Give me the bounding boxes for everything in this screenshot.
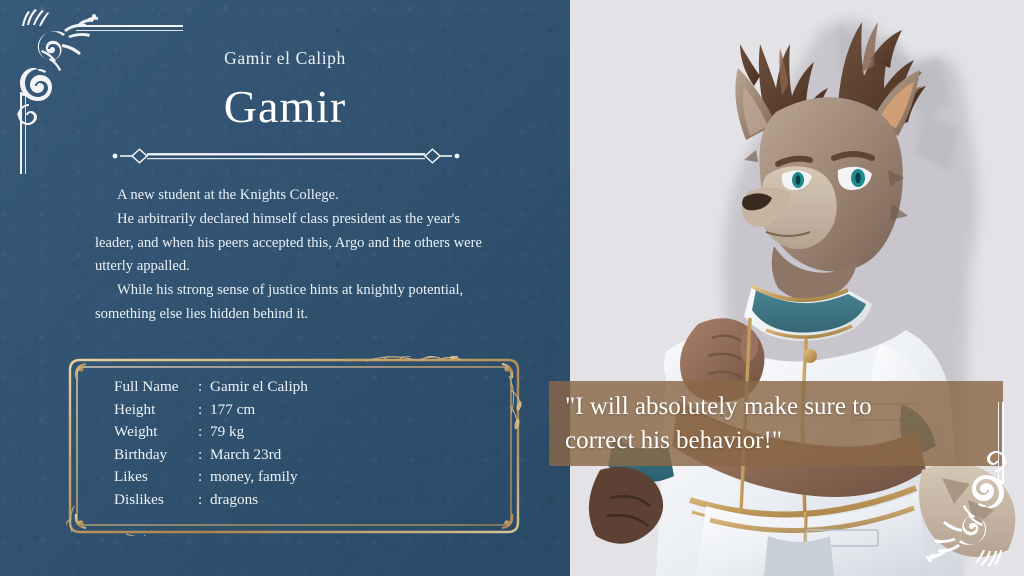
stats-label: Likes — [114, 466, 198, 489]
character-stats-panel: Full Name : Gamir el Caliph Height : 177… — [66, 356, 522, 536]
stats-separator: : — [198, 466, 210, 489]
header-rule-top-primary — [76, 25, 183, 27]
stats-separator: : — [198, 489, 210, 512]
stats-label: Weight — [114, 421, 198, 444]
left-info-panel: Gamir el Caliph Gamir A new student a — [0, 0, 570, 576]
header-rule-left-secondary — [25, 92, 26, 174]
stats-separator: : — [198, 421, 210, 444]
diamond-divider-icon — [112, 147, 460, 165]
description-paragraph-3: While his strong sense of justice hints … — [95, 279, 495, 327]
stats-row-full-name: Full Name : Gamir el Caliph — [114, 376, 308, 399]
description-paragraph-2: He arbitrarily declared himself class pr… — [95, 208, 495, 279]
stats-row-weight: Weight : 79 kg — [114, 421, 308, 444]
stats-label: Height — [114, 399, 198, 422]
stats-row-birthday: Birthday : March 23rd — [114, 444, 308, 467]
stats-label: Dislikes — [114, 489, 198, 512]
stats-value: dragons — [210, 489, 258, 512]
footer-rule-right-secondary — [998, 402, 999, 484]
stats-separator: : — [198, 376, 210, 399]
character-subtitle: Gamir el Caliph — [110, 48, 460, 69]
stats-label: Birthday — [114, 444, 198, 467]
stats-separator: : — [198, 444, 210, 467]
stats-label: Full Name — [114, 376, 198, 399]
character-description: A new student at the Knights College. He… — [95, 184, 495, 327]
stats-row-height: Height : 177 cm — [114, 399, 308, 422]
stats-list: Full Name : Gamir el Caliph Height : 177… — [114, 376, 308, 512]
stats-separator: : — [198, 399, 210, 422]
stats-row-dislikes: Dislikes : dragons — [114, 489, 308, 512]
stats-row-likes: Likes : money, family — [114, 466, 308, 489]
footer-rule-right-primary — [1002, 402, 1004, 484]
stats-value: 79 kg — [210, 421, 244, 444]
description-paragraph-1: A new student at the Knights College. — [95, 184, 495, 208]
stats-value: March 23rd — [210, 444, 281, 467]
stats-value: money, family — [210, 466, 298, 489]
stats-value: Gamir el Caliph — [210, 376, 308, 399]
character-name-title: Gamir — [110, 84, 460, 130]
header-rule-top-secondary — [76, 30, 183, 31]
character-profile-card: Gamir el Caliph Gamir A new student a — [0, 0, 1024, 576]
header-rule-left-primary — [20, 92, 22, 174]
stats-value: 177 cm — [210, 399, 255, 422]
